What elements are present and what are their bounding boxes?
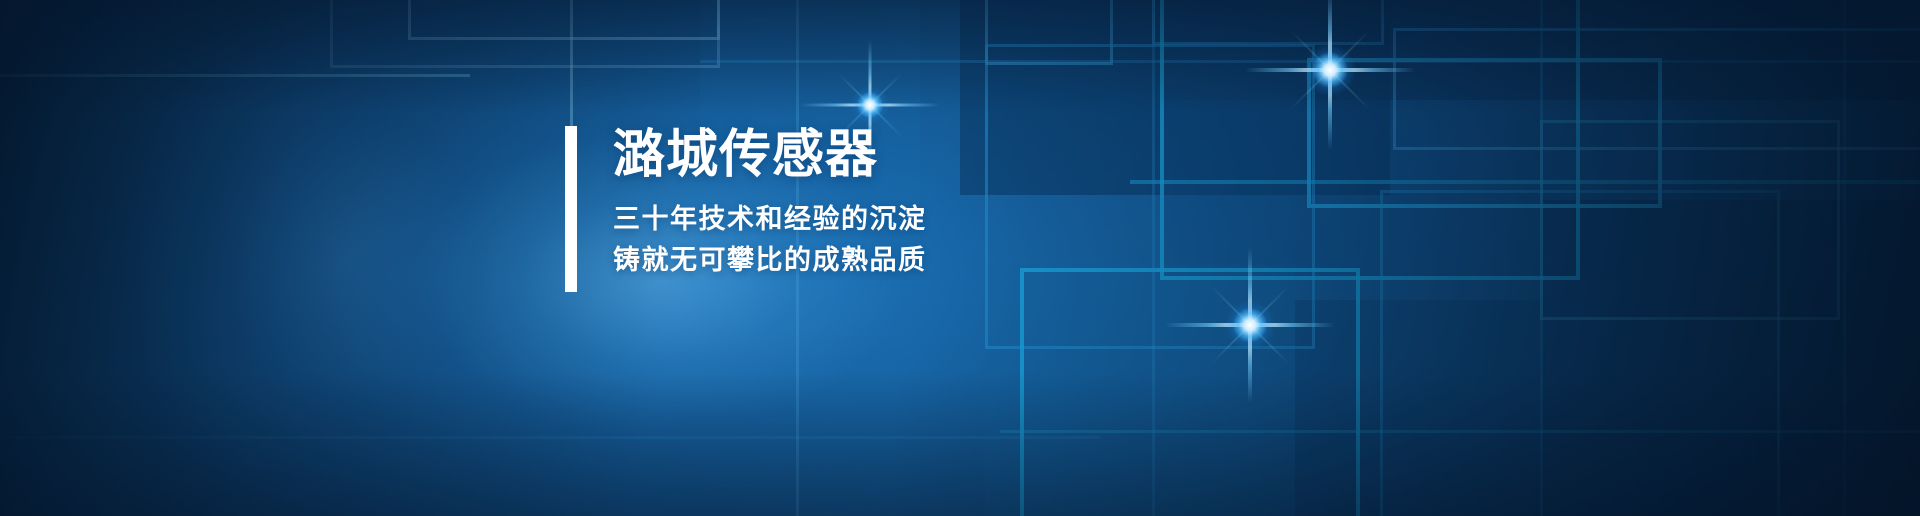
accent-bar: [565, 126, 577, 292]
background-vignette: [0, 0, 1920, 516]
banner-title: 潞城传感器: [613, 128, 927, 183]
banner-subtitle-line-2: 铸就无可攀比的成熟品质: [613, 240, 927, 282]
hero-banner: 潞城传感器 三十年技术和经验的沉淀 铸就无可攀比的成熟品质: [0, 0, 1920, 516]
banner-text-lines: 潞城传感器 三十年技术和经验的沉淀 铸就无可攀比的成熟品质: [613, 126, 927, 292]
spacer: [613, 183, 927, 199]
banner-text-block: 潞城传感器 三十年技术和经验的沉淀 铸就无可攀比的成熟品质: [565, 126, 927, 292]
banner-subtitle-line-1: 三十年技术和经验的沉淀: [613, 199, 927, 241]
